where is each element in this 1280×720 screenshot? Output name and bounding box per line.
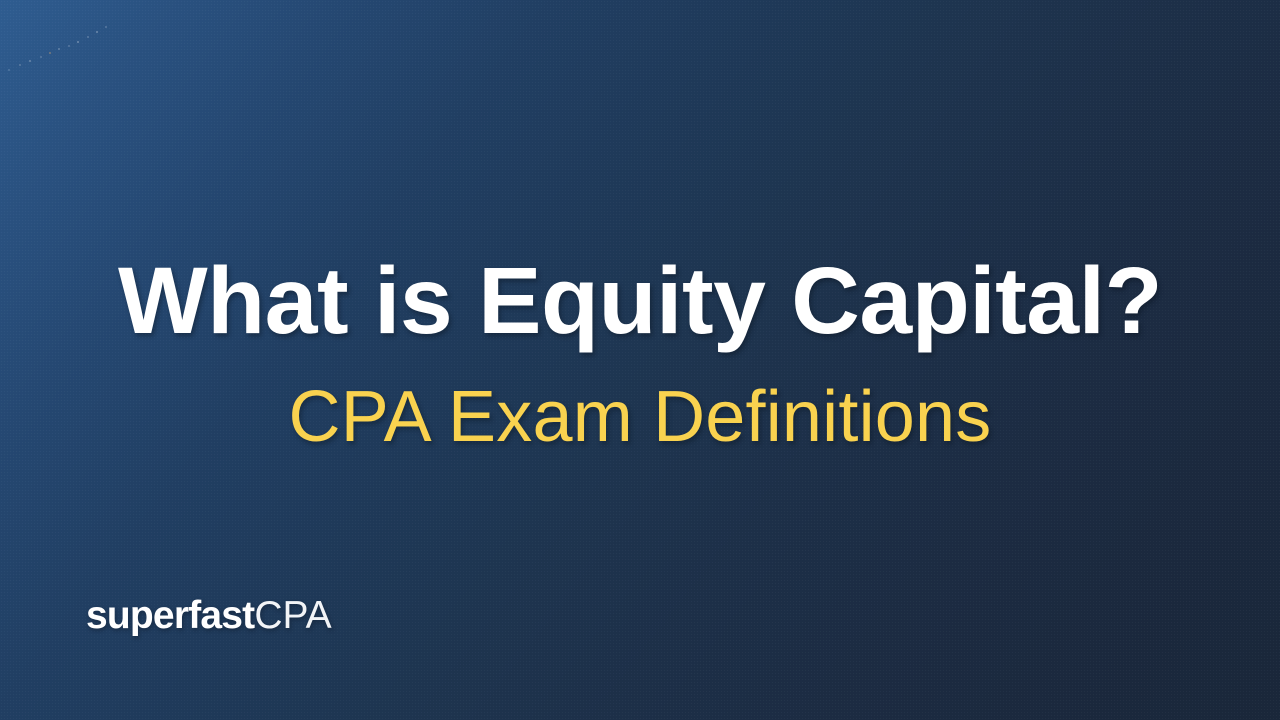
title-slide: What is Equity Capital? CPA Exam Definit… [0, 0, 1280, 720]
page-subtitle: CPA Exam Definitions [0, 380, 1280, 456]
logo-word-cpa: CPA [254, 594, 331, 637]
logo-word-superfast: superfast [86, 594, 254, 637]
page-title: What is Equity Capital? [0, 252, 1280, 352]
superfastcpa-logo: superfastCPA [86, 596, 332, 635]
slide-content: What is Equity Capital? CPA Exam Definit… [0, 0, 1280, 720]
